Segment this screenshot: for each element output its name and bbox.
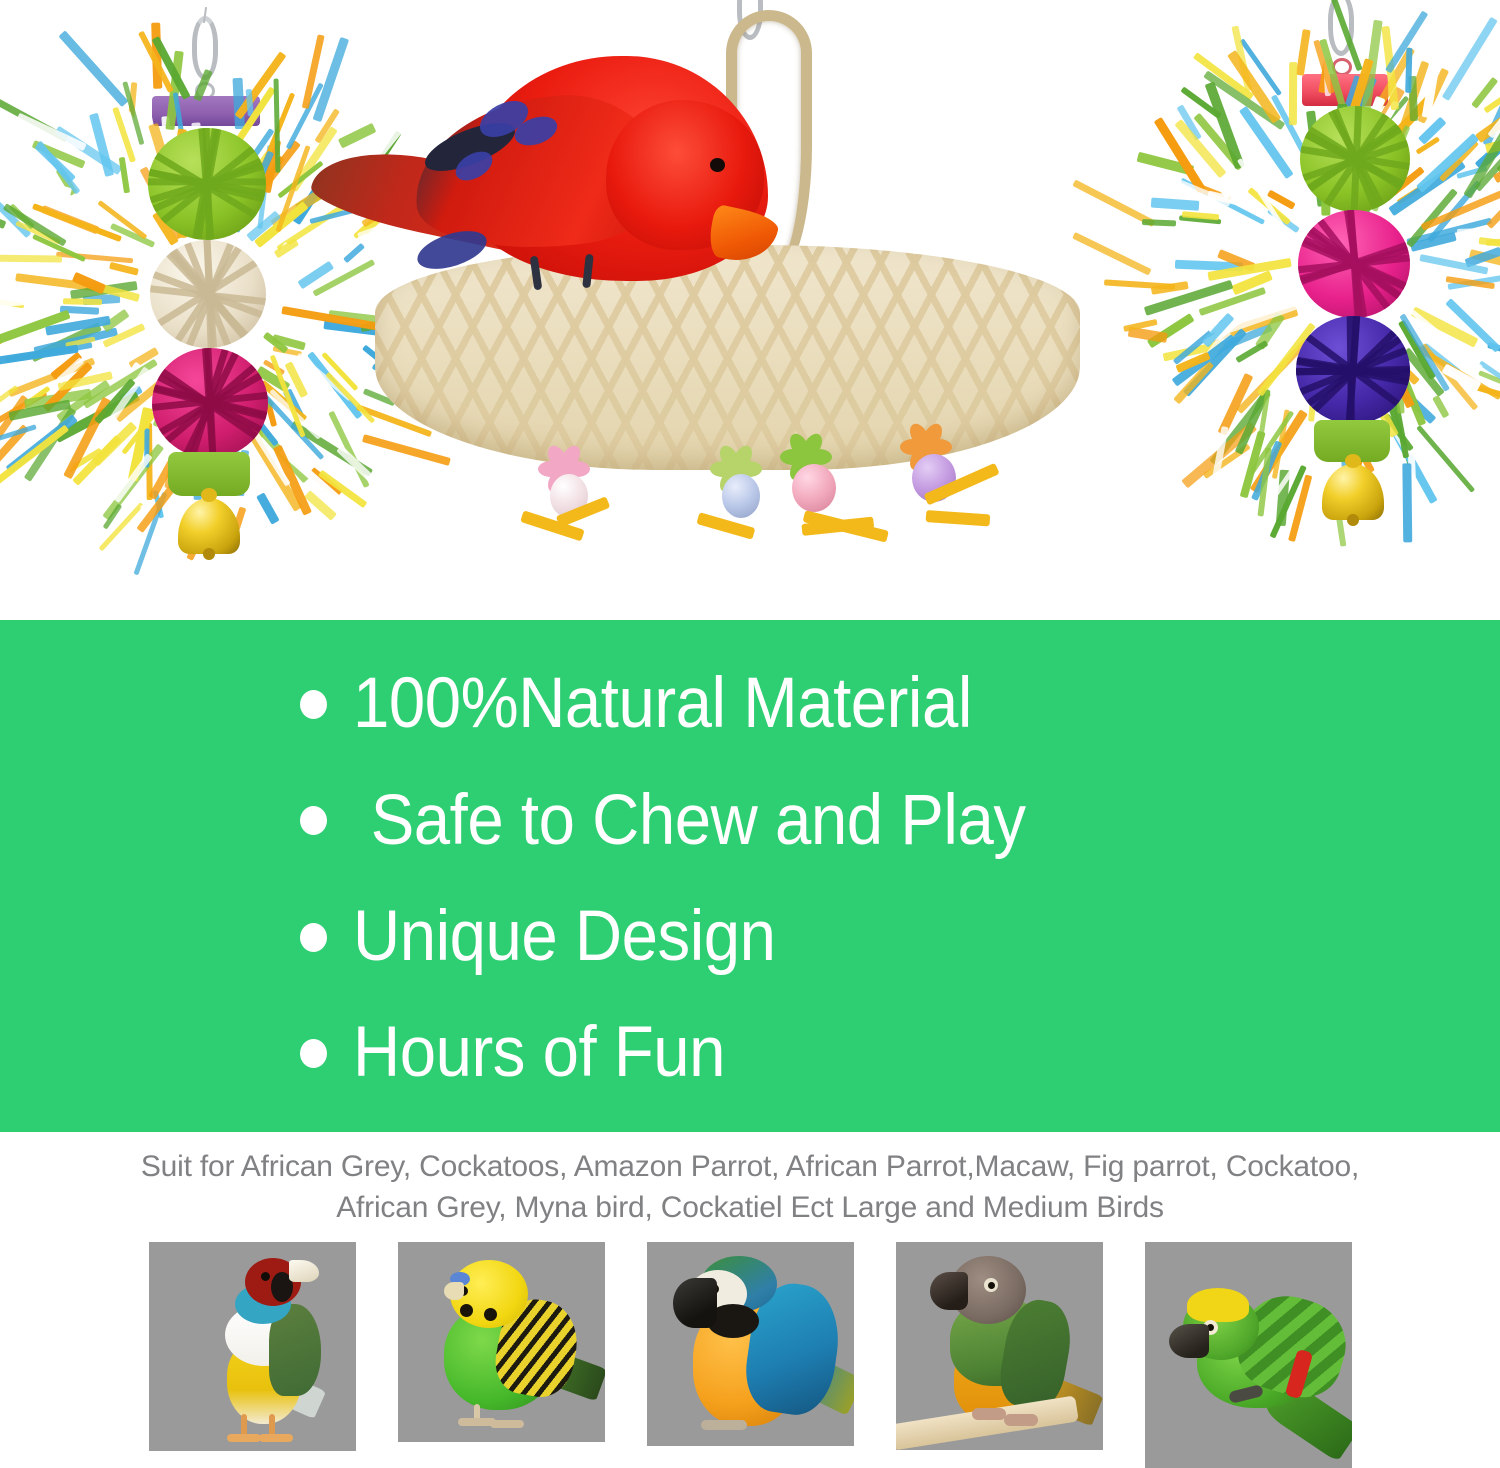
paper-shred bbox=[256, 493, 280, 526]
bird-eye bbox=[710, 158, 725, 172]
confetti-piece bbox=[713, 421, 733, 429]
confetti-piece bbox=[802, 345, 817, 353]
thumbnail-blue-and-gold-macaw bbox=[647, 1242, 854, 1446]
confetti-piece bbox=[961, 391, 981, 400]
rattan-ball-pink bbox=[1298, 210, 1410, 318]
confetti-piece bbox=[774, 419, 791, 437]
confetti-piece bbox=[499, 456, 512, 470]
thumbnail-senegal-parrot bbox=[896, 1242, 1103, 1450]
thumbnail-gouldian-finch bbox=[149, 1242, 356, 1451]
confetti-piece bbox=[602, 467, 613, 470]
confetti-piece bbox=[903, 387, 915, 395]
confetti-piece bbox=[881, 321, 901, 340]
confetti-piece bbox=[537, 437, 547, 450]
confetti-piece bbox=[804, 365, 810, 373]
confetti-piece bbox=[466, 467, 477, 470]
confetti-piece bbox=[854, 271, 867, 281]
confetti-piece bbox=[1048, 318, 1070, 337]
confetti-piece bbox=[651, 386, 664, 396]
feature-bullet-list: 100%Natural Material Safe to Chew and Pl… bbox=[300, 620, 1400, 1132]
confetti-piece bbox=[633, 412, 644, 431]
confetti-piece bbox=[861, 441, 871, 451]
confetti-piece bbox=[853, 358, 862, 370]
paper-shred bbox=[58, 31, 127, 107]
confetti-piece bbox=[826, 282, 849, 301]
confetti-piece bbox=[1054, 357, 1061, 365]
confetti-piece bbox=[896, 377, 914, 395]
confetti-piece bbox=[853, 295, 871, 317]
confetti-piece bbox=[863, 453, 870, 462]
confetti-piece bbox=[947, 330, 956, 347]
confetti-piece bbox=[641, 380, 656, 394]
confetti-piece bbox=[793, 379, 804, 393]
confetti-piece bbox=[1068, 395, 1080, 414]
confetti-piece bbox=[620, 398, 634, 416]
confetti-piece bbox=[412, 433, 421, 440]
confetti-piece bbox=[545, 407, 561, 421]
confetti-piece bbox=[835, 322, 856, 337]
bird-beak bbox=[444, 1282, 464, 1300]
confetti-piece bbox=[996, 300, 1010, 315]
confetti-piece bbox=[1039, 403, 1054, 418]
confetti-piece bbox=[1031, 344, 1043, 358]
list-item: Hours of Fun bbox=[300, 1017, 1400, 1089]
bullet-dot-icon bbox=[300, 1039, 327, 1068]
confetti-piece bbox=[419, 371, 436, 387]
confetti-piece bbox=[776, 380, 785, 391]
confetti-piece bbox=[816, 351, 837, 362]
confetti-piece bbox=[521, 439, 539, 462]
bullet-dot-icon bbox=[300, 806, 327, 835]
confetti-piece bbox=[632, 428, 643, 439]
confetti-piece bbox=[882, 345, 902, 365]
confetti-piece bbox=[926, 267, 939, 281]
weave-pattern bbox=[150, 240, 266, 348]
confetti-piece bbox=[763, 406, 775, 418]
confetti-piece bbox=[809, 304, 822, 318]
bird-eye bbox=[261, 1272, 270, 1281]
confetti-piece bbox=[884, 394, 903, 417]
paper-shred bbox=[362, 434, 451, 466]
feature-banner: 100%Natural Material Safe to Chew and Pl… bbox=[0, 620, 1500, 1132]
confetti-piece bbox=[841, 414, 862, 423]
confetti-piece bbox=[926, 359, 945, 375]
list-item: Unique Design bbox=[300, 901, 1400, 973]
confetti-piece bbox=[992, 435, 1008, 448]
confetti-piece bbox=[814, 257, 829, 276]
bird-beak bbox=[289, 1260, 319, 1282]
confetti-piece bbox=[1023, 278, 1038, 298]
confetti-piece bbox=[718, 401, 734, 415]
confetti-piece bbox=[729, 407, 746, 426]
confetti-piece bbox=[1029, 338, 1043, 349]
confetti-piece bbox=[939, 339, 952, 349]
bell-icon bbox=[1322, 464, 1384, 520]
bird-foot bbox=[972, 1408, 1006, 1420]
compatible-birds-thumbnail-row bbox=[0, 1242, 1500, 1468]
paper-shred bbox=[17, 113, 87, 151]
confetti-piece bbox=[865, 286, 879, 298]
confetti-piece bbox=[1048, 259, 1068, 278]
red-lory-bird bbox=[318, 38, 798, 368]
confetti-piece bbox=[881, 398, 895, 412]
confetti-piece bbox=[893, 325, 909, 339]
confetti-piece bbox=[950, 352, 968, 363]
confetti-piece bbox=[883, 379, 896, 392]
bird-foot bbox=[259, 1434, 293, 1442]
paper-shred bbox=[1289, 63, 1298, 126]
confetti-piece bbox=[1052, 392, 1071, 415]
confetti-piece bbox=[662, 467, 670, 470]
confetti-piece bbox=[924, 391, 934, 401]
feature-label: 100%Natural Material bbox=[353, 668, 972, 740]
confetti-piece bbox=[1053, 308, 1067, 321]
confetti-piece bbox=[999, 331, 1021, 344]
confetti-piece bbox=[888, 277, 900, 288]
confetti-piece bbox=[872, 433, 891, 449]
confetti-piece bbox=[593, 368, 606, 378]
confetti-piece bbox=[996, 427, 1003, 435]
confetti-piece bbox=[440, 410, 455, 425]
confetti-piece bbox=[610, 393, 617, 401]
confetti-piece bbox=[522, 430, 539, 446]
confetti-piece bbox=[1008, 462, 1020, 470]
weave-pattern bbox=[1300, 106, 1410, 212]
confetti-piece bbox=[906, 288, 924, 306]
confetti-piece bbox=[994, 328, 1008, 339]
paper-shred bbox=[89, 113, 114, 177]
feature-label: Hours of Fun bbox=[353, 1017, 725, 1089]
paper-shred bbox=[108, 262, 138, 276]
confetti-piece bbox=[925, 399, 937, 416]
confetti-piece bbox=[835, 277, 846, 290]
bullet-dot-icon bbox=[300, 923, 327, 952]
bead bbox=[792, 464, 836, 512]
confetti-piece bbox=[471, 443, 489, 459]
confetti-piece bbox=[863, 308, 885, 329]
confetti-piece bbox=[891, 307, 905, 321]
confetti-piece bbox=[560, 380, 572, 392]
product-listing-image: 100%Natural Material Safe to Chew and Pl… bbox=[0, 0, 1500, 1468]
confetti-piece bbox=[834, 268, 850, 284]
confetti-piece bbox=[456, 390, 467, 403]
confetti-piece bbox=[464, 401, 480, 421]
confetti-piece bbox=[807, 305, 824, 315]
caption-line-1: Suit for African Grey, Cockatoos, Amazon… bbox=[0, 1146, 1500, 1187]
confetti-piece bbox=[499, 400, 510, 413]
confetti-piece bbox=[1059, 260, 1066, 279]
confetti-piece bbox=[1008, 364, 1029, 378]
paper-shred bbox=[1296, 29, 1311, 75]
confetti-piece bbox=[473, 392, 495, 415]
confetti-piece bbox=[830, 371, 845, 386]
feature-label: Safe to Chew and Play bbox=[353, 785, 1026, 857]
caption-line-2: African Grey, Myna bird, Cockatiel Ect L… bbox=[0, 1187, 1500, 1228]
confetti-piece bbox=[845, 393, 856, 411]
confetti-piece bbox=[766, 453, 780, 466]
confetti-piece bbox=[649, 461, 671, 470]
confetti-piece bbox=[932, 298, 953, 315]
rattan-ball-purple bbox=[1296, 316, 1410, 424]
confetti-piece bbox=[1016, 397, 1033, 418]
bird-foot bbox=[1004, 1414, 1038, 1426]
confetti-piece bbox=[997, 318, 1006, 326]
confetti-piece bbox=[505, 380, 517, 392]
confetti-piece bbox=[1013, 258, 1033, 274]
confetti-piece bbox=[958, 257, 972, 275]
paper-shred bbox=[0, 168, 25, 183]
bird-beak bbox=[673, 1278, 717, 1328]
paper-shred bbox=[1456, 228, 1479, 235]
bird-foot bbox=[227, 1434, 261, 1442]
weave-pattern bbox=[152, 348, 268, 458]
paper-shred bbox=[0, 296, 32, 311]
confetti-piece bbox=[666, 436, 675, 446]
confetti-piece bbox=[479, 455, 498, 470]
confetti-piece bbox=[538, 410, 548, 421]
paper-shred bbox=[0, 233, 21, 239]
confetti-piece bbox=[699, 392, 717, 412]
confetti-piece bbox=[829, 307, 847, 326]
confetti-piece bbox=[924, 390, 938, 404]
confetti-piece bbox=[901, 309, 912, 317]
confetti-piece bbox=[1007, 282, 1029, 294]
confetti-piece bbox=[682, 442, 694, 457]
confetti-piece bbox=[679, 435, 694, 446]
confetti-piece bbox=[882, 316, 894, 327]
confetti-piece bbox=[856, 301, 878, 323]
confetti-piece bbox=[952, 322, 964, 335]
bullet-dot-icon bbox=[300, 690, 327, 719]
confetti-piece bbox=[625, 455, 639, 468]
list-item: 100%Natural Material bbox=[300, 668, 1400, 740]
confetti-piece bbox=[710, 425, 718, 434]
confetti-piece bbox=[705, 421, 721, 439]
confetti-piece bbox=[1003, 253, 1017, 270]
confetti-piece bbox=[696, 391, 711, 409]
confetti-piece bbox=[472, 386, 494, 402]
confetti-piece bbox=[669, 455, 676, 466]
ribbon bbox=[926, 510, 991, 526]
confetti-piece bbox=[969, 245, 979, 258]
confetti-piece bbox=[886, 378, 899, 391]
confetti-piece bbox=[939, 298, 952, 311]
confetti-piece bbox=[883, 415, 901, 429]
weave-pattern bbox=[1296, 316, 1410, 424]
confetti-piece bbox=[926, 388, 933, 408]
confetti-piece bbox=[849, 305, 864, 322]
confetti-piece bbox=[1073, 427, 1080, 441]
confetti-piece bbox=[437, 372, 460, 389]
weave-pattern bbox=[148, 128, 266, 240]
confetti-piece bbox=[1015, 288, 1028, 301]
confetti-piece bbox=[1012, 377, 1021, 386]
confetti-piece bbox=[1071, 446, 1080, 459]
bead bbox=[722, 474, 760, 518]
confetti-piece bbox=[977, 279, 994, 287]
paper-shred bbox=[1141, 219, 1176, 227]
confetti-piece bbox=[930, 272, 949, 295]
confetti-piece bbox=[530, 417, 543, 429]
confetti-piece bbox=[886, 335, 908, 352]
confetti-piece bbox=[865, 364, 877, 375]
bird-crown bbox=[1187, 1288, 1249, 1322]
paper-shred bbox=[1405, 48, 1412, 93]
feature-label: Unique Design bbox=[353, 901, 775, 973]
confetti-piece bbox=[1007, 256, 1017, 263]
weave-pattern bbox=[1298, 210, 1410, 318]
bird-foot bbox=[490, 1420, 524, 1428]
confetti-piece bbox=[1052, 352, 1068, 368]
confetti-piece bbox=[1010, 407, 1024, 422]
confetti-piece bbox=[665, 373, 684, 395]
confetti-piece bbox=[723, 372, 736, 389]
confetti-piece bbox=[607, 435, 625, 448]
confetti-piece bbox=[995, 245, 1012, 263]
confetti-piece bbox=[1072, 277, 1080, 299]
list-item: Safe to Chew and Play bbox=[300, 785, 1400, 857]
confetti-piece bbox=[849, 406, 872, 422]
confetti-piece bbox=[900, 278, 916, 287]
confetti-piece bbox=[1053, 433, 1068, 455]
confetti-piece bbox=[1049, 282, 1062, 292]
thumbnail-amazon-parrot bbox=[1145, 1242, 1352, 1468]
confetti-piece bbox=[968, 254, 980, 268]
confetti-piece bbox=[784, 372, 799, 386]
confetti-piece bbox=[893, 247, 914, 261]
confetti-piece bbox=[956, 449, 977, 469]
confetti-piece bbox=[457, 387, 468, 399]
bird-beak bbox=[930, 1272, 968, 1310]
confetti-piece bbox=[851, 273, 864, 288]
confetti-piece bbox=[486, 397, 509, 418]
confetti-piece bbox=[870, 366, 882, 380]
confetti-piece bbox=[1032, 386, 1050, 405]
confetti-piece bbox=[830, 317, 841, 329]
rattan-ball-green bbox=[148, 128, 266, 240]
confetti-piece bbox=[658, 426, 672, 433]
compatibility-caption: Suit for African Grey, Cockatoos, Amazon… bbox=[0, 1146, 1500, 1229]
confetti-piece bbox=[863, 375, 872, 388]
confetti-piece bbox=[582, 406, 602, 417]
paper-shred bbox=[1403, 464, 1413, 543]
confetti-piece bbox=[1013, 292, 1027, 308]
bird-pupil bbox=[988, 1282, 995, 1289]
confetti-piece bbox=[1005, 378, 1020, 394]
confetti-piece bbox=[451, 407, 466, 429]
paper-shred bbox=[1151, 198, 1200, 211]
confetti-piece bbox=[1032, 358, 1037, 368]
paper-shred bbox=[63, 298, 102, 305]
bird-beak bbox=[1169, 1324, 1209, 1358]
confetti-piece bbox=[1012, 442, 1018, 452]
confetti-piece bbox=[447, 454, 466, 470]
confetti-piece bbox=[1044, 450, 1058, 467]
confetti-piece bbox=[759, 429, 771, 440]
confetti-piece bbox=[810, 284, 823, 299]
confetti-piece bbox=[987, 245, 1004, 261]
confetti-piece bbox=[845, 441, 855, 454]
confetti-piece bbox=[968, 357, 983, 369]
confetti-piece bbox=[782, 411, 795, 424]
confetti-piece bbox=[762, 438, 775, 453]
confetti-piece bbox=[1070, 409, 1080, 422]
confetti-piece bbox=[664, 447, 682, 465]
bird-cheek-spot bbox=[460, 1304, 473, 1317]
confetti-piece bbox=[804, 246, 813, 253]
confetti-piece bbox=[1014, 295, 1026, 304]
confetti-piece bbox=[967, 415, 983, 437]
confetti-piece bbox=[672, 449, 689, 470]
confetti-piece bbox=[997, 445, 1018, 458]
bird-foot bbox=[701, 1420, 747, 1430]
confetti-piece bbox=[899, 258, 917, 274]
confetti-piece bbox=[404, 406, 420, 422]
paper-shred bbox=[336, 445, 410, 517]
confetti-piece bbox=[906, 263, 922, 279]
confetti-piece bbox=[648, 432, 659, 452]
confetti-piece bbox=[861, 313, 878, 325]
confetti-piece bbox=[944, 332, 957, 346]
paper-shred bbox=[0, 254, 62, 262]
confetti-piece bbox=[398, 388, 406, 399]
confetti-piece bbox=[911, 353, 933, 374]
thumbnail-budgerigar bbox=[398, 1242, 605, 1442]
confetti-piece bbox=[886, 368, 907, 386]
confetti-piece bbox=[556, 373, 566, 387]
bird-cheek-spot bbox=[484, 1308, 497, 1321]
confetti-piece bbox=[845, 437, 855, 458]
confetti-piece bbox=[1061, 435, 1080, 460]
confetti-piece bbox=[903, 301, 919, 322]
paper-shred bbox=[1073, 233, 1152, 276]
paper-shred bbox=[1451, 451, 1500, 516]
rattan-ball-green bbox=[1300, 106, 1410, 212]
confetti-piece bbox=[1001, 245, 1018, 261]
confetti-piece bbox=[628, 389, 641, 409]
confetti-piece bbox=[988, 339, 1001, 354]
confetti-piece bbox=[1036, 345, 1053, 352]
confetti-piece bbox=[866, 416, 885, 429]
confetti-piece bbox=[1031, 281, 1046, 293]
confetti-piece bbox=[575, 380, 584, 397]
confetti-piece bbox=[960, 359, 981, 374]
rattan-ball-natural bbox=[150, 240, 266, 348]
confetti-piece bbox=[837, 401, 857, 419]
confetti-piece bbox=[394, 427, 404, 436]
confetti-piece bbox=[1021, 330, 1027, 337]
confetti-piece bbox=[996, 366, 1013, 383]
confetti-piece bbox=[631, 423, 645, 434]
confetti-piece bbox=[1058, 405, 1079, 424]
confetti-piece bbox=[984, 421, 993, 433]
confetti-piece bbox=[990, 390, 1003, 410]
confetti-piece bbox=[919, 290, 937, 311]
paper-shred bbox=[119, 157, 130, 194]
rattan-ball-pink bbox=[152, 348, 268, 458]
confetti-piece bbox=[867, 425, 878, 436]
confetti-piece bbox=[665, 411, 674, 424]
confetti-piece bbox=[942, 331, 955, 344]
confetti-piece bbox=[436, 392, 450, 404]
confetti-piece bbox=[573, 434, 582, 444]
confetti-piece bbox=[948, 273, 959, 281]
hero-product-photo bbox=[0, 0, 1500, 620]
confetti-piece bbox=[617, 365, 640, 387]
confetti-piece bbox=[963, 417, 978, 435]
confetti-piece bbox=[1011, 432, 1029, 441]
confetti-piece bbox=[490, 390, 504, 405]
